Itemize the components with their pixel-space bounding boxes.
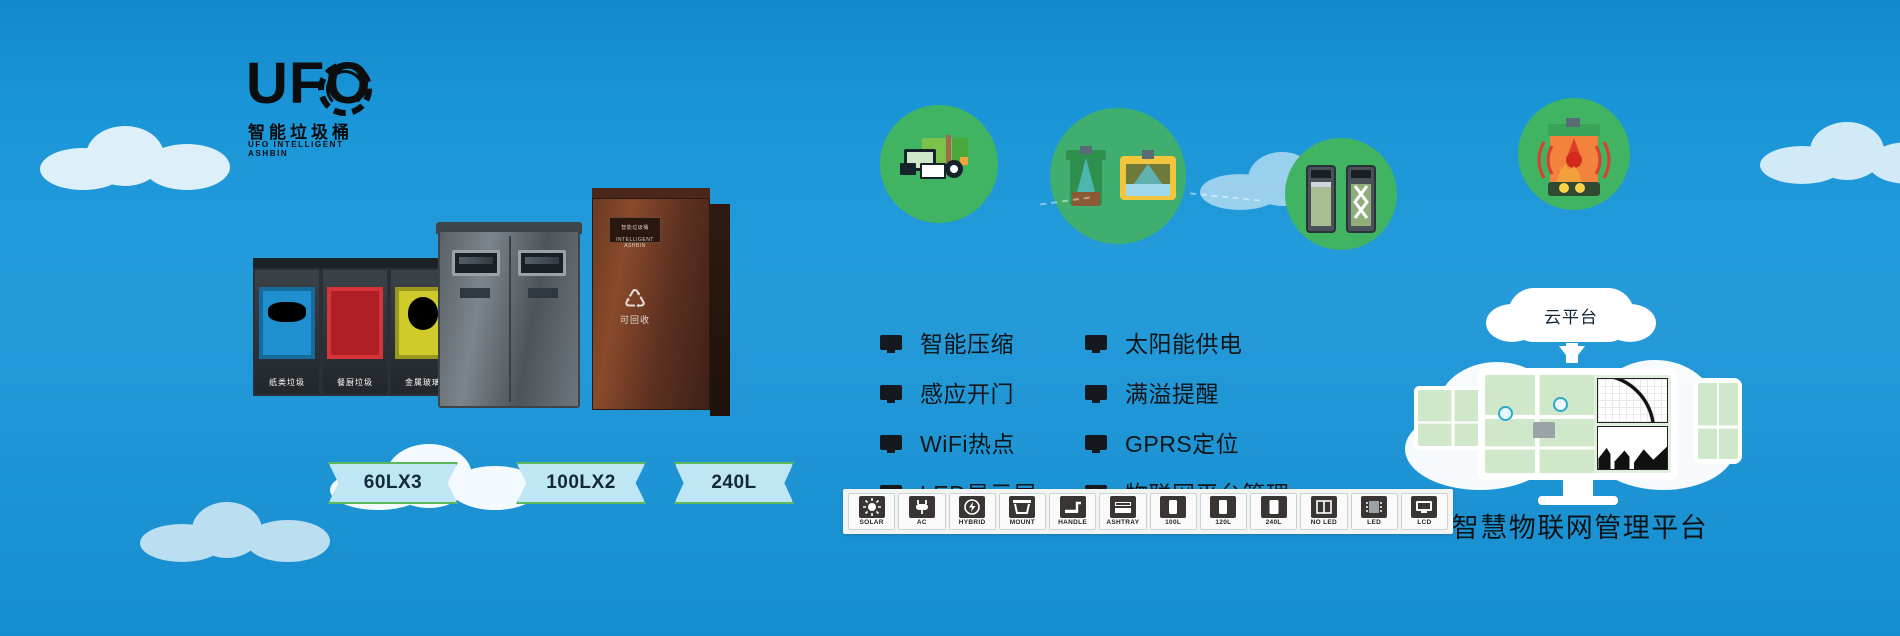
feature-item: 太阳能供电 — [1085, 325, 1290, 359]
spec-chip-hybrid[interactable]: HYBRID — [949, 493, 996, 530]
chip-label: HYBRID — [959, 519, 986, 526]
truck-and-devices-icon — [880, 105, 998, 223]
feature-label: 智能压缩 — [920, 325, 1014, 359]
bin-sensor-pad — [528, 288, 558, 298]
plate-subtitle: INTELLIGENT ASHBIN — [610, 237, 660, 249]
download-arrow-icon — [1559, 346, 1585, 363]
bin-compartment-kitchen: 餐厨垃圾 — [321, 268, 389, 396]
feature-label: 感应开门 — [920, 375, 1014, 409]
logo-english-name: UFO INTELLIGENT ASHBIN — [248, 140, 372, 158]
feature-item: 智能压缩 — [880, 325, 1037, 359]
map-marker — [1553, 397, 1568, 412]
bin-slot-icon — [408, 297, 439, 329]
feature-label: 满溢提醒 — [1125, 375, 1219, 409]
monitor-bullet-icon — [880, 335, 902, 350]
ribbon-text: 60LX3 — [364, 472, 422, 494]
spec-chip-mount[interactable]: MOUNT — [999, 493, 1046, 530]
recycle-marking: ♺ 可回收 — [615, 285, 655, 331]
bin-body — [438, 230, 580, 408]
brand-logo: UFO 智能垃圾桶 UFO INTELLIGENT ASHBIN — [246, 56, 372, 152]
bin-info-plate: 智能垃圾桶 INTELLIGENT ASHBIN — [609, 217, 661, 243]
spec-chip-strip: SOLAR AC HYBRID MOUNT — [843, 489, 1453, 534]
ashtray-icon — [1110, 496, 1136, 518]
chip-label: SOLAR — [860, 519, 884, 526]
spec-chip-handle[interactable]: HANDLE — [1049, 493, 1096, 530]
feature-item: WiFi热点 — [880, 425, 1037, 459]
led-panel-icon — [1361, 496, 1387, 518]
feature-item: 满溢提醒 — [1085, 375, 1290, 409]
feature-label: WiFi热点 — [920, 425, 1015, 459]
iot-platform-illustration: 云平台 — [1430, 300, 1730, 510]
wall-mount-icon — [1009, 496, 1035, 518]
bin-side-panel — [710, 204, 730, 416]
feature-item: 感应开门 — [880, 375, 1037, 409]
monitor-bullet-icon — [1085, 335, 1107, 350]
spec-chip-solar[interactable]: SOLAR — [848, 493, 895, 530]
product-dual-compactor-bin: 智慧垃圾桶 — [438, 230, 580, 408]
monitor-bullet-icon — [880, 435, 902, 450]
map-marker — [1498, 406, 1513, 421]
sun-icon — [859, 496, 885, 518]
bin-100l-icon — [1160, 496, 1186, 518]
spec-chip-ac[interactable]: AC — [898, 493, 945, 530]
product-three-compartment-bin: 纸类垃圾 餐厨垃圾 金属玻璃 — [253, 268, 457, 396]
bin-slot-icon — [268, 302, 306, 322]
twin-compactor-bins-icon — [1285, 138, 1397, 250]
bin-fill-sensor-icon — [1050, 108, 1186, 244]
bin-120l-icon — [1210, 496, 1236, 518]
platform-caption: 智慧物联网管理平台 — [1420, 506, 1740, 545]
cloud-decoration-left — [40, 120, 230, 190]
feature-circle-smart-collection — [880, 105, 998, 223]
area-chart-thumbnail — [1597, 426, 1668, 471]
product-brown-recycling-bin: 智能垃圾桶 INTELLIGENT ASHBIN ♺ 可回收 — [592, 198, 710, 410]
line-chart-thumbnail — [1597, 378, 1668, 423]
bin-hatch-right-icon — [518, 250, 566, 276]
bin-240l-icon — [1261, 496, 1287, 518]
spec-chip-ashtray[interactable]: ASHTRAY — [1099, 493, 1146, 530]
spec-chip-led[interactable]: LED — [1351, 493, 1398, 530]
logo-inner-ring-icon — [326, 70, 364, 108]
recycle-symbol-icon: ♺ — [615, 285, 655, 313]
monitor-bullet-icon — [1085, 435, 1107, 450]
bin-hatch-left-icon — [452, 250, 500, 276]
chip-label: 240L — [1266, 519, 1282, 526]
dashboard-map-panel — [1485, 375, 1594, 473]
product-label-100lx2: 100LX2 — [516, 462, 646, 504]
chip-label: ASHTRAY — [1106, 519, 1139, 526]
spec-chip-no-led[interactable]: NO LED — [1300, 493, 1347, 530]
device-phone — [1694, 378, 1742, 464]
chip-label: 120L — [1215, 519, 1231, 526]
feature-label: 太阳能供电 — [1125, 325, 1243, 359]
plate-title: 智能垃圾桶 — [610, 224, 660, 231]
map-truck-icon — [1533, 422, 1555, 438]
bin-compartment-paper: 纸类垃圾 — [253, 268, 321, 396]
no-led-panel-icon — [1311, 496, 1337, 518]
compartment-label: 纸类垃圾 — [255, 377, 319, 388]
lightning-circle-icon — [959, 496, 985, 518]
feature-item: GPRS定位 — [1085, 425, 1290, 459]
chip-label: LED — [1367, 519, 1381, 526]
bin-divider — [509, 236, 511, 402]
device-monitor — [1478, 368, 1678, 480]
feature-label: GPRS定位 — [1125, 425, 1239, 459]
ribbon-text: 240L — [711, 472, 756, 494]
recycle-label: 可回收 — [615, 313, 655, 326]
product-label-60lx3: 60LX3 — [328, 462, 458, 504]
handle-icon — [1060, 496, 1086, 518]
feature-circle-fire-alarm — [1518, 98, 1630, 210]
cloud-platform-badge: 云平台 — [1508, 288, 1634, 342]
bin-body: 智能垃圾桶 INTELLIGENT ASHBIN ♺ 可回收 — [592, 198, 710, 410]
chip-label: 100L — [1165, 519, 1181, 526]
promo-banner: UFO 智能垃圾桶 UFO INTELLIGENT ASHBIN 纸类垃圾 餐厨… — [0, 0, 1900, 636]
monitor-bullet-icon — [880, 385, 902, 400]
dashboard-chart-panel — [1594, 375, 1671, 473]
spec-chip-100l[interactable]: 100L — [1150, 493, 1197, 530]
monitor-screen — [1485, 375, 1671, 473]
power-plug-icon — [909, 496, 935, 518]
spec-chip-120l[interactable]: 120L — [1200, 493, 1247, 530]
monitor-base — [1538, 496, 1618, 505]
cloud-decoration-bottomleft — [140, 500, 330, 562]
cloud-platform-label: 云平台 — [1544, 303, 1598, 328]
compartment-label: 餐厨垃圾 — [323, 377, 387, 388]
feature-circle-fill-detection — [1050, 108, 1186, 244]
product-label-240l: 240L — [674, 462, 794, 504]
cloud-decoration-right — [1760, 120, 1900, 184]
chip-label: NO LED — [1311, 519, 1337, 526]
chip-label: AC — [917, 519, 927, 526]
chip-label: HANDLE — [1058, 519, 1087, 526]
chip-label: MOUNT — [1010, 519, 1035, 526]
feature-circle-compaction — [1285, 138, 1397, 250]
phone-screen-map — [1698, 383, 1738, 459]
ribbon-text: 100LX2 — [546, 472, 616, 494]
spec-chip-240l[interactable]: 240L — [1250, 493, 1297, 530]
bin-fire-alarm-icon — [1518, 98, 1630, 210]
monitor-bullet-icon — [1085, 385, 1107, 400]
compartment-panel — [327, 287, 382, 359]
bin-sensor-pad — [460, 288, 490, 298]
compartment-panel — [259, 287, 314, 359]
